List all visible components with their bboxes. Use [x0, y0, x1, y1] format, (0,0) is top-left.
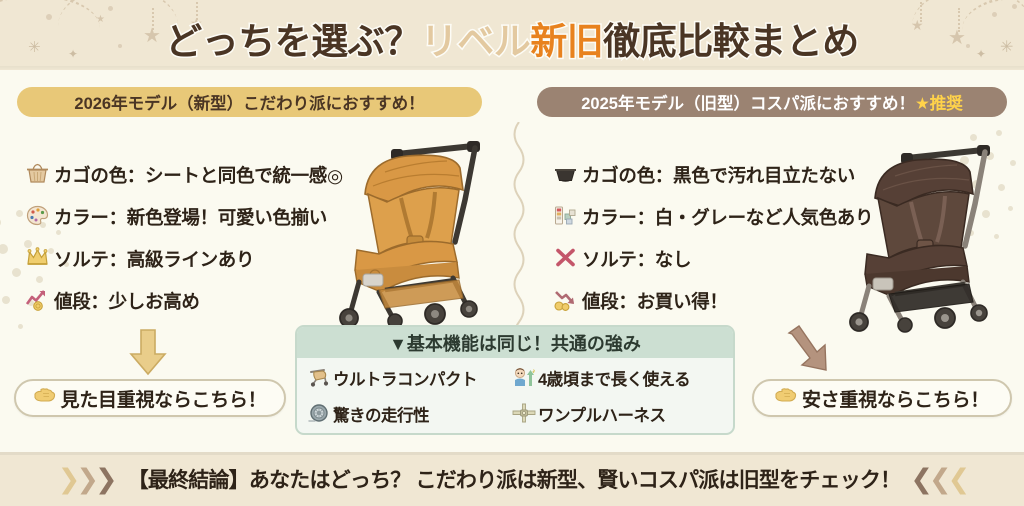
wheel-icon: [305, 403, 333, 426]
down-arrow-gold-icon: [127, 328, 169, 381]
feature-list-old-model: カゴの色：黒色で汚れ目立たない カラー：白・グレーなど人気色あり: [548, 154, 873, 322]
list-item: ウルトラコンパクト: [305, 360, 510, 396]
palette-icon: [20, 205, 54, 230]
list-item-label: カラー：新色登場！可愛い色揃い: [54, 204, 327, 230]
crown-icon: [20, 247, 54, 272]
common-features-box: ▼基本機能は同じ！共通の強み ウルトラコンパクト: [295, 325, 735, 435]
list-item-label: カラー：白・グレーなど人気色あり: [582, 204, 873, 230]
harness-icon: [510, 403, 538, 426]
cross-mark-icon: [548, 247, 582, 272]
diagonal-arrow-brown-icon: [785, 325, 833, 380]
list-item-label: ソルテ：高級ラインあり: [54, 246, 254, 272]
list-item: カラー：新色登場！可愛い色揃い: [20, 196, 343, 238]
pointing-right-hand-icon: [34, 387, 56, 409]
cta-price-priority-button[interactable]: 安さ重視ならこちら！: [752, 379, 1012, 417]
conclusion-text: 【最終結論】あなたはどっち？ こだわり派は新型、賢いコスパ派は旧型をチェック！: [128, 464, 901, 494]
title-part-1: どっちを選ぶ？: [165, 20, 421, 63]
chart-down-money-icon: [548, 288, 582, 315]
list-item: カゴの色：黒色で汚れ目立たない: [548, 154, 873, 196]
common-features-grid: ウルトラコンパクト: [297, 358, 733, 432]
list-item: 値段：お買い得！: [548, 280, 873, 322]
list-item-label: ワンプルハーネス: [538, 402, 666, 426]
cta-design-priority-label: 見た目重視ならこちら！: [61, 385, 267, 412]
title-part-4: 徹底比較まとめ: [603, 20, 859, 63]
list-item: ソルテ：高級ラインあり: [20, 238, 343, 280]
stroller-icon: [305, 367, 333, 390]
basket-icon: [20, 163, 54, 188]
chevron-right-decoration-left: ❯❯❯: [58, 466, 114, 493]
comparison-body: 2026年モデル（新型）こだわり派におすすめ！ 2025年モデル（旧型）コスパ派…: [0, 70, 1024, 452]
list-item: カラー：白・グレーなど人気色あり: [548, 196, 873, 238]
cta-price-priority-label: 安さ重視ならこちら！: [802, 385, 989, 412]
list-item-label: 値段：少しお高め: [54, 288, 200, 314]
conclusion-bar: ❯❯❯ 【最終結論】あなたはどっち？ こだわり派は新型、賢いコスパ派は旧型をチェ…: [0, 452, 1024, 506]
common-features-header: ▼基本機能は同じ！共通の強み: [297, 327, 733, 358]
list-item-label: ソルテ：なし: [582, 246, 691, 272]
list-item: ソルテ：なし: [548, 238, 873, 280]
badge-old-model: 2025年モデル（旧型）コスパ派におすすめ！★推奨: [537, 87, 1007, 117]
color-swatch-icon: [548, 205, 582, 230]
list-item: カゴの色：シートと同色で統一感◎: [20, 154, 343, 196]
title-part-2: リベル: [421, 20, 531, 63]
orange-stroller-illustration: [335, 132, 510, 332]
list-item-label: カゴの色：シートと同色で統一感◎: [54, 162, 343, 188]
badge-new-model: 2026年モデル（新型）こだわり派におすすめ！: [17, 87, 482, 117]
list-item-label: 驚きの走行性: [333, 402, 429, 426]
header-band: ★ ★ ✳ ✦ ★ ★ ★ ✳ ✦ どっちを選ぶ？リベル新旧徹底比較まとめ: [0, 0, 1024, 70]
child-growth-icon: [510, 367, 538, 390]
list-item-label: 値段：お買い得！: [582, 288, 728, 314]
list-item: 驚きの走行性: [305, 396, 510, 432]
common-features-header-label: ▼基本機能は同じ！共通の強み: [389, 330, 641, 356]
list-item: 4歳頃まで長く使える: [510, 360, 727, 396]
infographic-canvas: ★ ★ ✳ ✦ ★ ★ ★ ✳ ✦ どっちを選ぶ？リベル新旧徹底比較まとめ: [0, 0, 1024, 506]
badge-recommend-label: ★推奨: [915, 90, 963, 114]
list-item-label: ウルトラコンパクト: [333, 366, 477, 390]
list-item-label: カゴの色：黒色で汚れ目立たない: [582, 162, 855, 188]
badge-new-model-label: 2026年モデル（新型）こだわり派におすすめ！: [74, 90, 424, 114]
badge-old-model-label: 2025年モデル（旧型）コスパ派におすすめ！: [581, 90, 915, 114]
chevron-left-decoration-right: ❮❮❮: [910, 466, 966, 493]
chart-up-money-icon: [20, 288, 54, 315]
list-item-label: 4歳頃まで長く使える: [538, 366, 690, 390]
list-item: 値段：少しお高め: [20, 280, 343, 322]
feature-list-new-model: カゴの色：シートと同色で統一感◎ カラー：新色登場！可愛い色揃い: [20, 154, 343, 322]
black-basket-icon: [548, 163, 582, 188]
page-title: どっちを選ぶ？リベル新旧徹底比較まとめ: [0, 11, 1024, 65]
list-item: ワンプルハーネス: [510, 396, 727, 432]
title-part-3: 新旧: [530, 20, 603, 63]
pointing-right-hand-icon: [775, 387, 797, 409]
cta-design-priority-button[interactable]: 見た目重視ならこちら！: [14, 379, 286, 417]
